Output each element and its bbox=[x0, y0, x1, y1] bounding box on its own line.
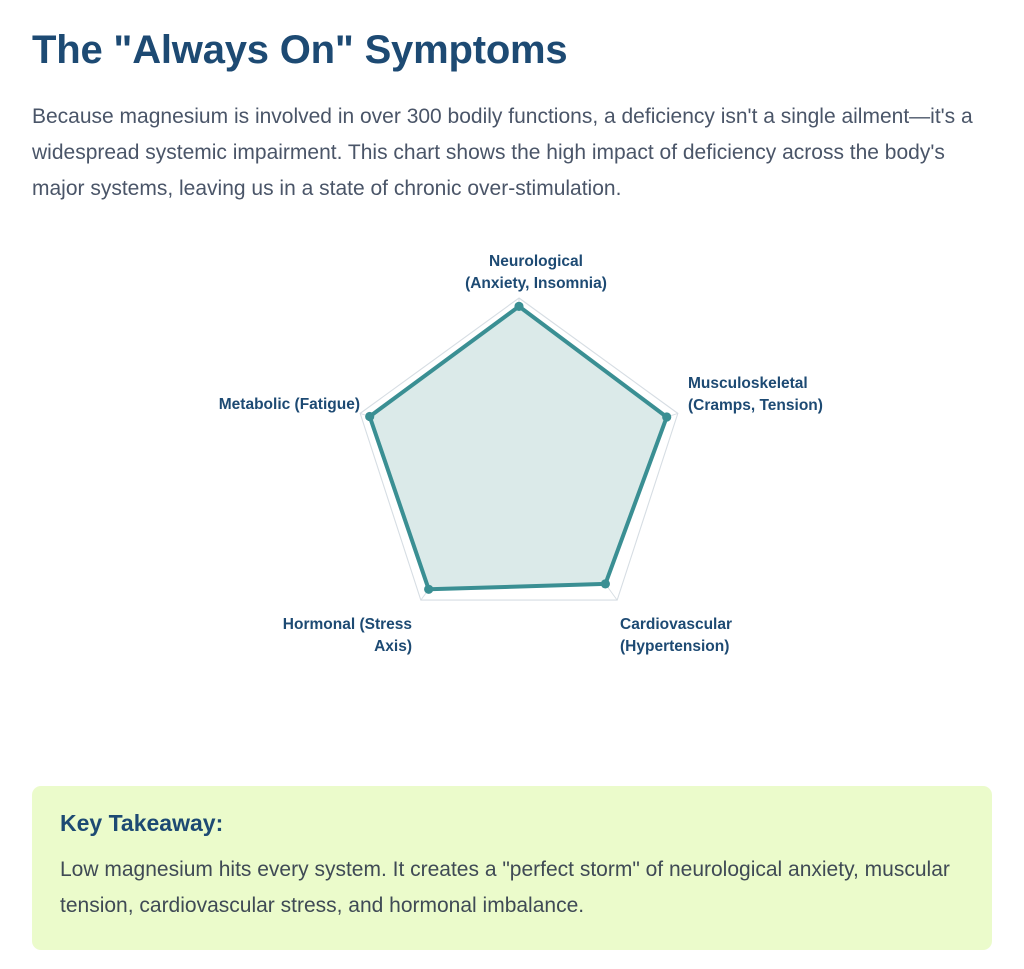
radar-data-point[interactable] bbox=[514, 302, 523, 311]
radar-data-point[interactable] bbox=[365, 412, 374, 421]
axis-label-musculoskeletal: Musculoskeletal (Cramps, Tension) bbox=[688, 373, 908, 416]
key-takeaway-title: Key Takeaway: bbox=[60, 810, 964, 838]
axis-label-metabolic: Metabolic (Fatigue) bbox=[132, 394, 360, 415]
axis-label-hormonal: Hormonal (Stress Axis) bbox=[172, 614, 412, 657]
radar-data-point[interactable] bbox=[601, 579, 610, 588]
key-takeaway-box: Key Takeaway: Low magnesium hits every s… bbox=[32, 786, 992, 950]
radar-chart: Neurological (Anxiety, Insomnia) Musculo… bbox=[32, 233, 992, 703]
radar-data-point[interactable] bbox=[662, 413, 671, 422]
axis-label-neurological: Neurological (Anxiety, Insomnia) bbox=[436, 251, 636, 294]
page-title: The "Always On" Symptoms bbox=[32, 0, 992, 73]
key-takeaway-body: Low magnesium hits every system. It crea… bbox=[60, 838, 964, 924]
axis-label-cardiovascular: Cardiovascular (Hypertension) bbox=[620, 614, 840, 657]
radar-data-point[interactable] bbox=[424, 585, 433, 594]
intro-paragraph: Because magnesium is involved in over 30… bbox=[32, 73, 992, 207]
infographic-page: The "Always On" Symptoms Because magnesi… bbox=[0, 0, 1024, 969]
